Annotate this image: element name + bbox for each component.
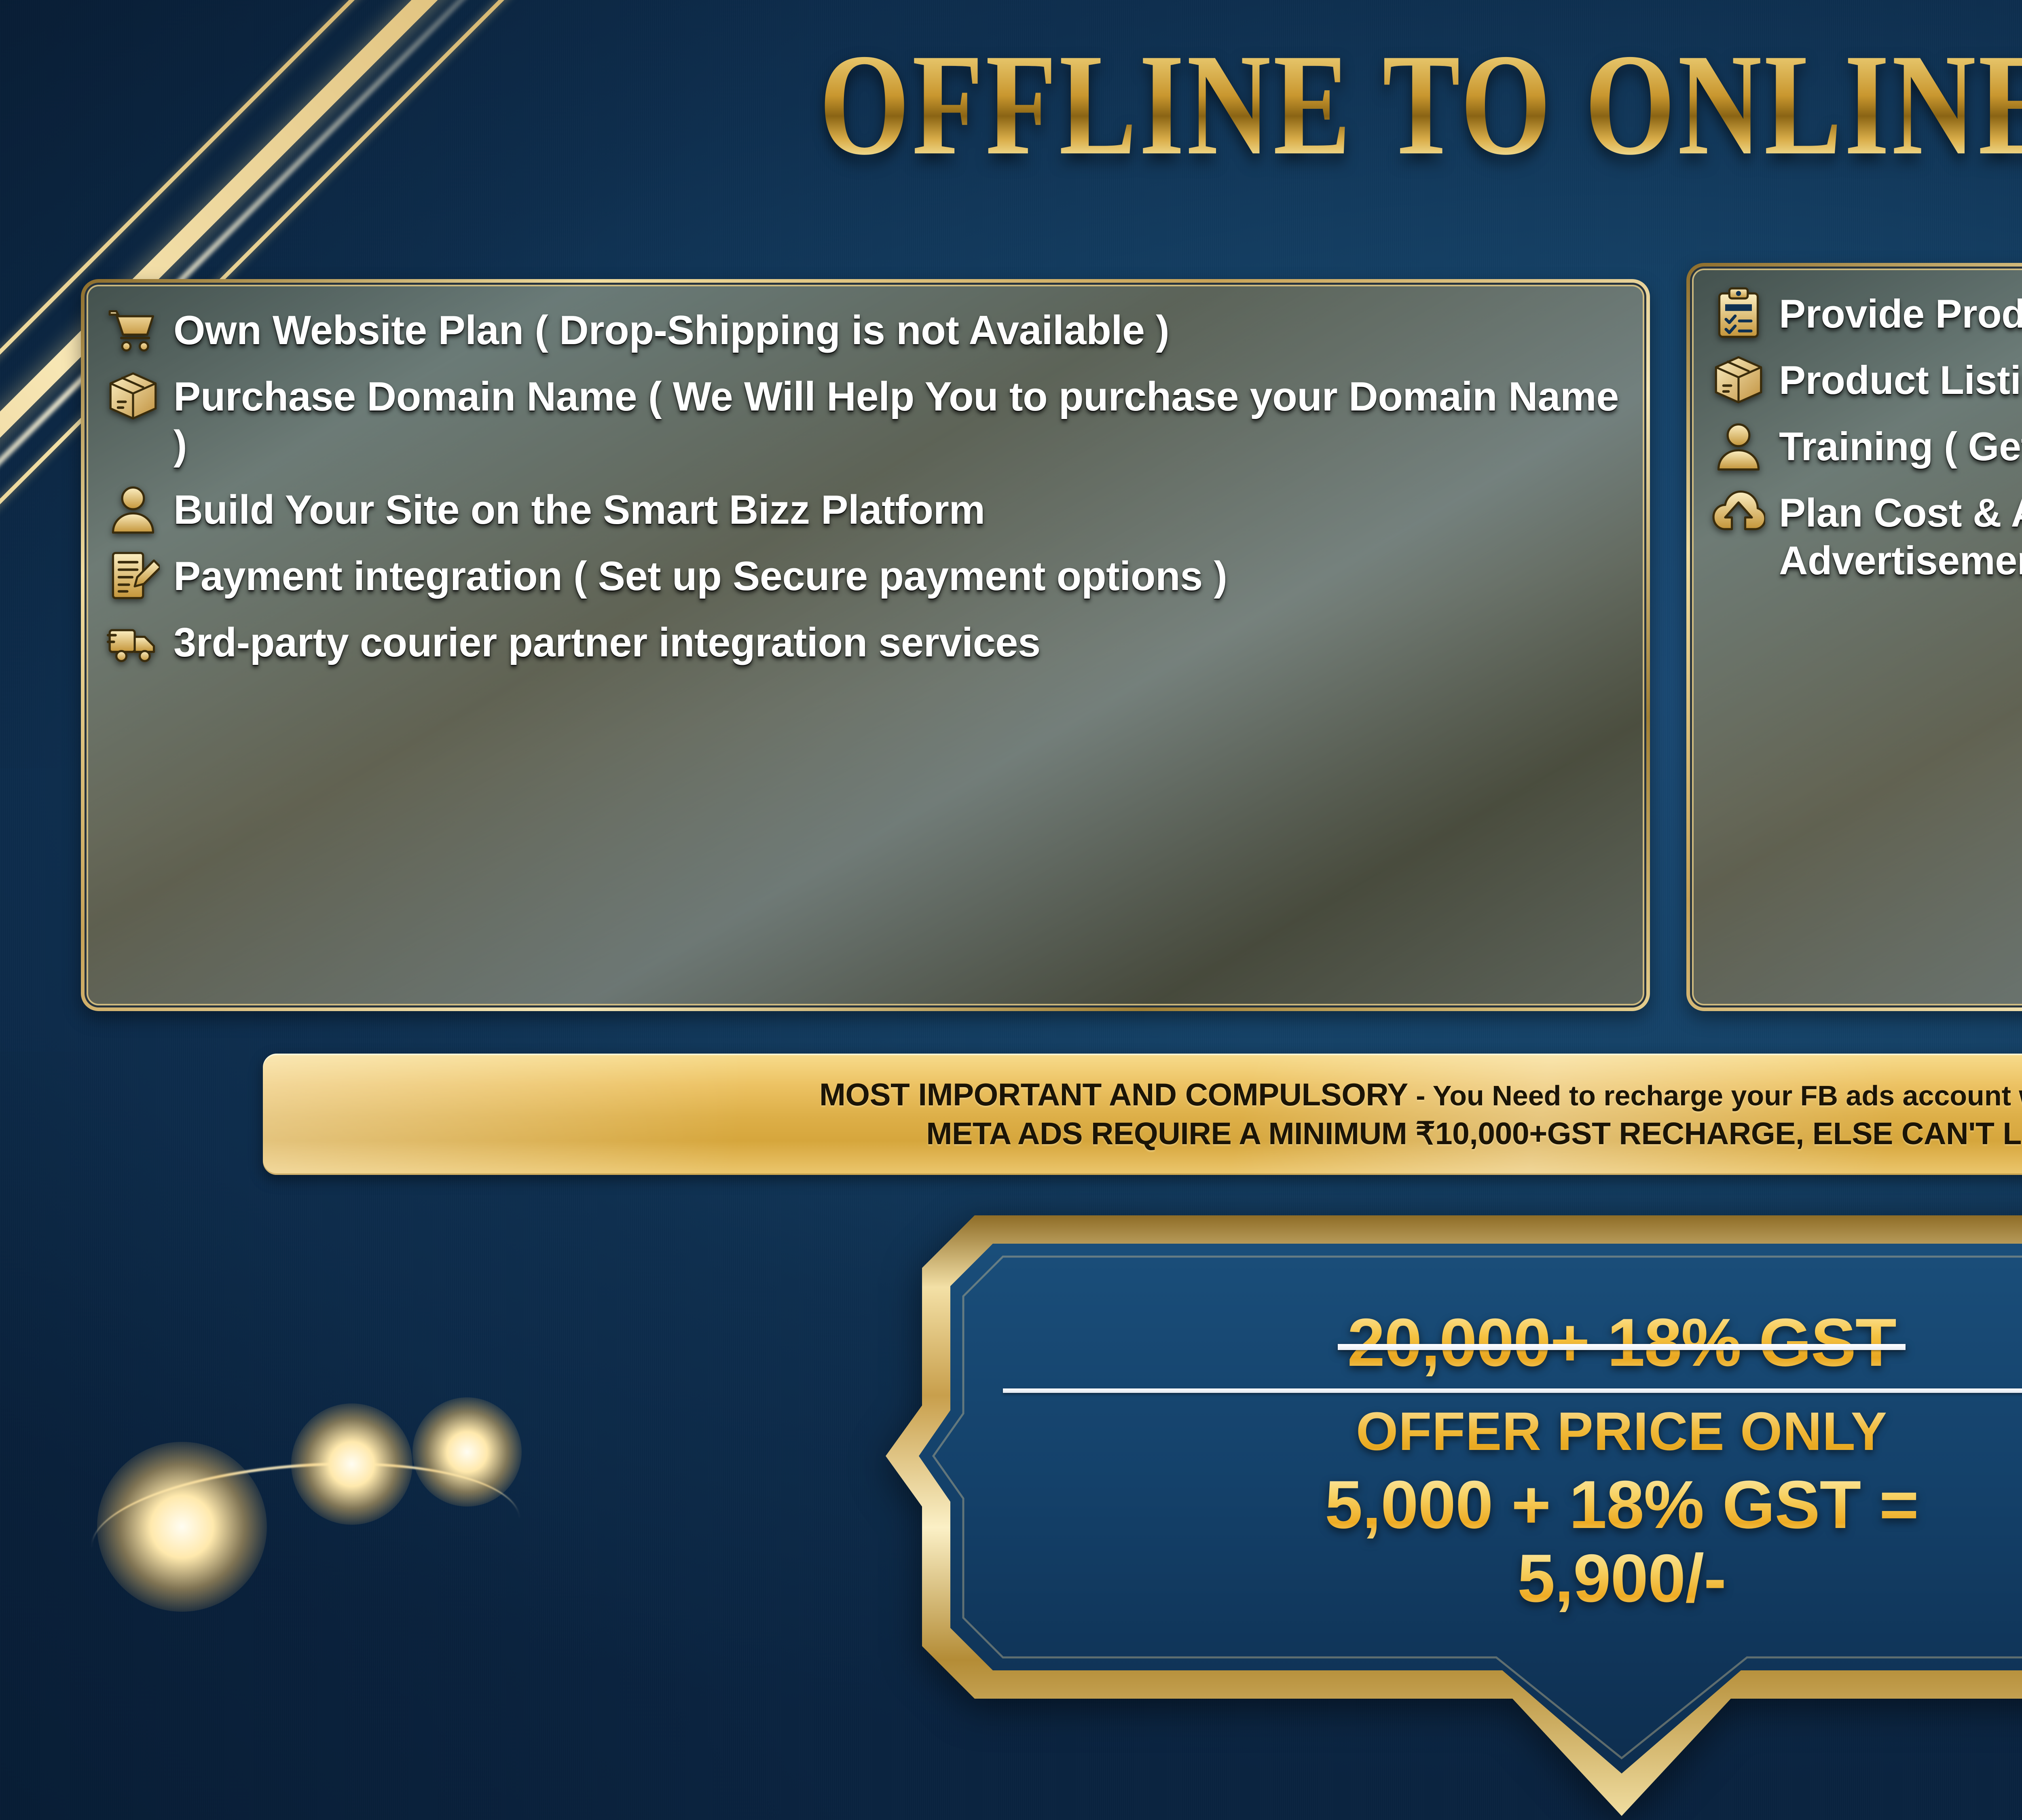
list-item-label: Build Your Site on the Smart Bizz Platfo… — [173, 486, 985, 534]
important-notice-banner: MOST IMPORTANT AND COMPULSORY - You Need… — [263, 1054, 2022, 1175]
list-item: 3rd-party courier partner integration se… — [106, 618, 1624, 669]
user-person-icon — [106, 483, 160, 536]
list-item: Payment integration ( Set up Secure paym… — [106, 552, 1624, 602]
offer-price-line-1: 5,000 + 18% GST = — [1325, 1467, 1918, 1543]
list-item-label: Training ( Get training for adding more … — [1779, 423, 2022, 470]
list-item: Training ( Get training for adding more … — [1712, 423, 2022, 473]
list-item-label: Product Listing ( We will List 20 produc… — [1779, 356, 2022, 404]
user-person-icon — [1712, 419, 1765, 473]
bokeh-light — [291, 1403, 412, 1525]
list-item-label: Plan Cost & Ads ( 5,000+ tax ( Plan Fee … — [1779, 489, 2022, 584]
left-feature-list: Own Website Plan ( Drop-Shipping is not … — [106, 306, 1624, 669]
list-item: Plan Cost & Ads ( 5,000+ tax ( Plan Fee … — [1712, 489, 2022, 584]
page-title: OFFLINE TO ONLINE PLAN — [65, 32, 2022, 177]
list-item-label: Payment integration ( Set up Secure paym… — [173, 552, 1227, 601]
list-item-label: Own Website Plan ( Drop-Shipping is not … — [173, 306, 1169, 355]
list-item-label: 3rd-party courier partner integration se… — [173, 618, 1041, 667]
banner-line-1-strong: MOST IMPORTANT AND COMPULSORY — [819, 1077, 1408, 1112]
offer-price-line-2: 5,900/- — [1517, 1540, 1726, 1616]
bokeh-light — [97, 1442, 267, 1612]
list-item-label: Purchase Domain Name ( We Will Help You … — [173, 372, 1624, 470]
memo-pencil-icon — [106, 549, 160, 602]
list-item-label: Provide Product Info ( Client provides p… — [1779, 290, 2022, 338]
shopping-cart-icon — [106, 303, 160, 356]
right-features-panel: Provide Product Info ( Client provides p… — [1686, 263, 2022, 1011]
cloud-upload-icon — [1712, 486, 1765, 539]
list-item: Provide Product Info ( Client provides p… — [1712, 290, 2022, 340]
right-feature-list: Provide Product Info ( Client provides p… — [1712, 290, 2022, 584]
banner-line-1: MOST IMPORTANT AND COMPULSORY - You Need… — [819, 1078, 2022, 1111]
package-box-icon — [1712, 353, 1765, 406]
left-features-panel: Own Website Plan ( Drop-Shipping is not … — [81, 279, 1650, 1011]
list-item: Build Your Site on the Smart Bizz Platfo… — [106, 486, 1624, 536]
corner-decoration-bottom-left — [0, 1294, 526, 1820]
banner-line-2: META ADS REQUIRE A MINIMUM ₹10,000+GST R… — [926, 1117, 2022, 1151]
list-item: Purchase Domain Name ( We Will Help You … — [106, 372, 1624, 470]
string-lights-decoration — [73, 1343, 639, 1594]
offer-price-label: OFFER PRICE ONLY — [1356, 1403, 1887, 1460]
price-badge-content: 20,000+ 18% GST OFFER PRICE ONLY 5,000 +… — [882, 1211, 2022, 1701]
bokeh-light — [412, 1397, 522, 1507]
poster-canvas: OFFLINE TO ONLINE PLAN Own Website Plan … — [0, 0, 2022, 1820]
price-badge: 20,000+ 18% GST OFFER PRICE ONLY 5,000 +… — [882, 1211, 2022, 1820]
list-item: Own Website Plan ( Drop-Shipping is not … — [106, 306, 1624, 356]
original-price-strikethrough: 20,000+ 18% GST — [1347, 1308, 1896, 1377]
banner-line-1-rest: - You Need to recharge your FB ads accou… — [1408, 1080, 2022, 1111]
list-item: Product Listing ( We will List 20 produc… — [1712, 356, 2022, 406]
delivery-truck-icon — [106, 615, 160, 669]
package-box-icon — [106, 369, 160, 423]
clipboard-checklist-icon — [1712, 287, 1765, 340]
price-separator-line — [1003, 1388, 2022, 1393]
